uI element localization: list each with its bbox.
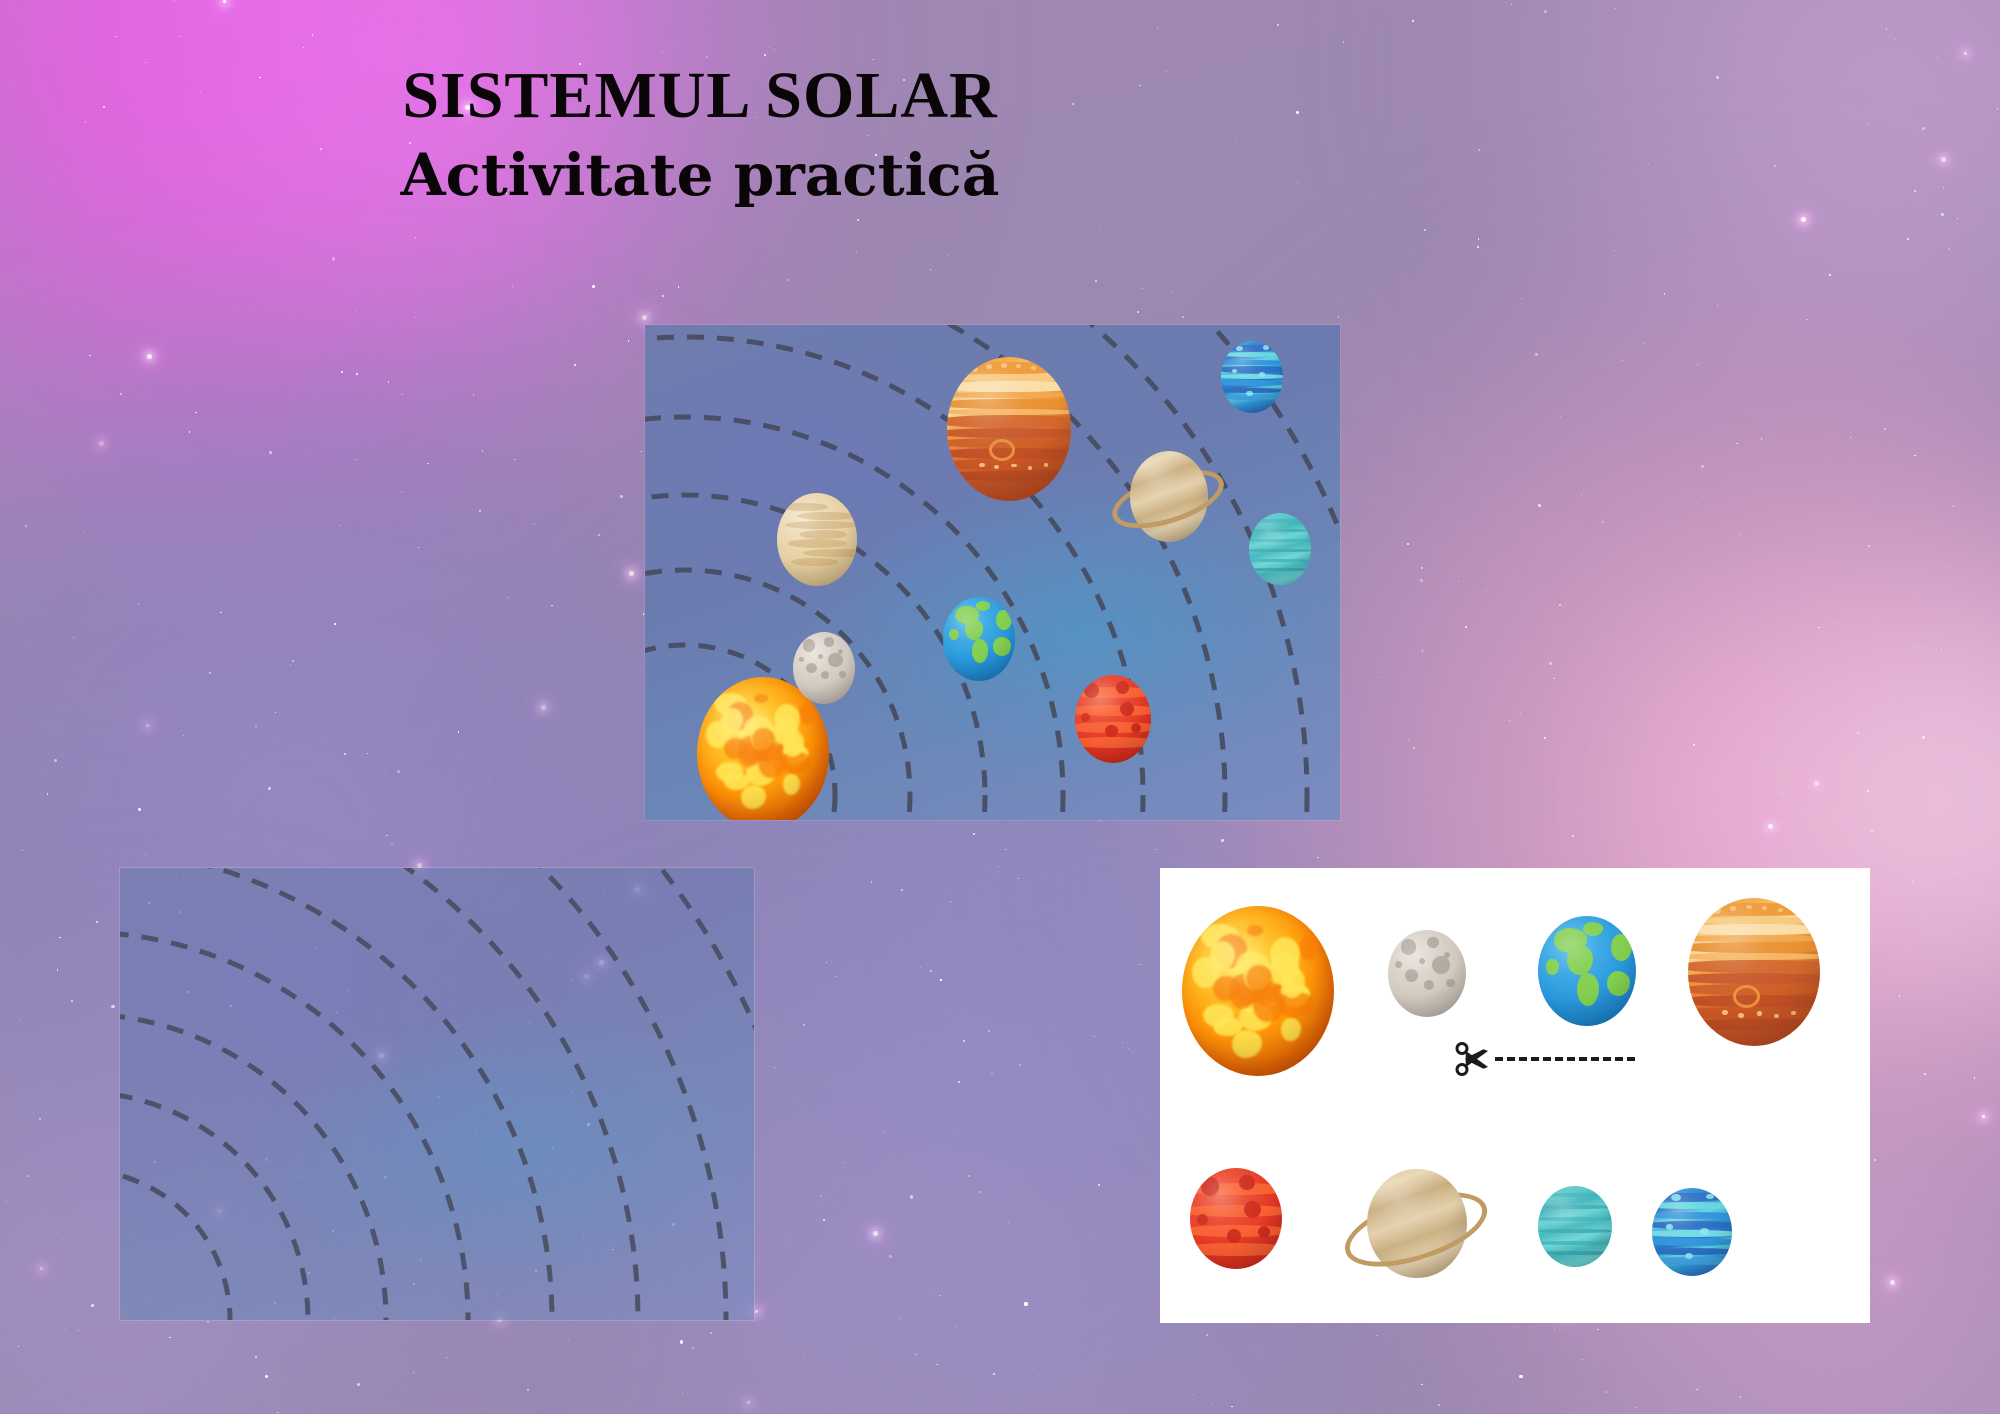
- planet-uranus[interactable]: [1249, 513, 1311, 585]
- title-block: SISTEMUL SOLAR Activitate practică: [0, 60, 1400, 211]
- planet-sun[interactable]: [1182, 906, 1334, 1076]
- solar-system-card[interactable]: [645, 325, 1340, 820]
- planet-earth[interactable]: [1538, 916, 1636, 1026]
- planet-jupiter[interactable]: [947, 357, 1071, 501]
- cutout-sheet-card[interactable]: [1160, 868, 1870, 1323]
- planet-mars[interactable]: [1075, 675, 1151, 763]
- cut-line: [1455, 1040, 1635, 1078]
- planet-earth[interactable]: [943, 597, 1015, 681]
- page-title: SISTEMUL SOLAR: [0, 60, 1400, 131]
- slide-canvas: SISTEMUL SOLAR Activitate practică: [0, 0, 2000, 1414]
- planet-saturn[interactable]: [1342, 1164, 1490, 1280]
- scissors-icon: [1455, 1040, 1489, 1078]
- planet-jupiter[interactable]: [1688, 898, 1820, 1046]
- planet-venus[interactable]: [777, 493, 857, 586]
- planet-mercury[interactable]: [793, 632, 855, 704]
- page-subtitle: Activitate practică: [0, 141, 1400, 211]
- empty-orbit-board-card[interactable]: [120, 868, 754, 1320]
- orbit-arcs-empty: [120, 868, 754, 1320]
- planet-neptune[interactable]: [1652, 1188, 1732, 1276]
- planet-saturn[interactable]: [1110, 447, 1226, 539]
- planet-neptune[interactable]: [1221, 341, 1283, 413]
- planet-mars[interactable]: [1190, 1168, 1282, 1269]
- planet-uranus[interactable]: [1538, 1186, 1612, 1267]
- cut-dashed-line: [1495, 1057, 1635, 1061]
- planet-mercury[interactable]: [1388, 930, 1466, 1017]
